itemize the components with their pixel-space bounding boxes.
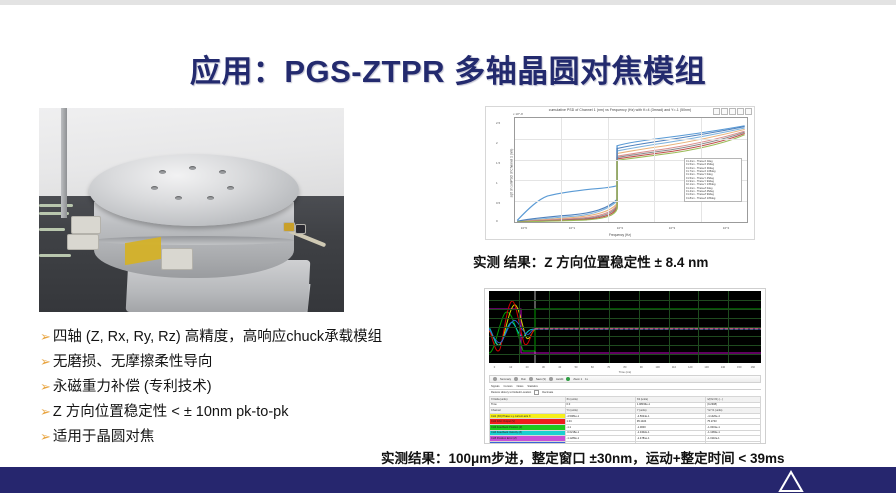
photo-connector (71, 216, 101, 234)
chart2-caption: 实测结果：100μm步进，整定窗口 ±30nm，运动+整定时间 < 39ms (381, 447, 785, 467)
channel-label: CH6 DAC Out-Z (490, 441, 566, 444)
scope-x-axis-label: Time (ms) (489, 370, 761, 374)
chart-y-axis-label: sqrt of cumPSD of Channel 1 (nm) (509, 149, 513, 198)
scope-x-tick: 140 (721, 366, 725, 369)
scope-x-tick: 90 (640, 366, 643, 369)
chart-x-tick: 10^0 (521, 226, 527, 230)
scope-x-tick: 130 (704, 366, 708, 369)
scope-panel: 0 10 20 30 40 50 60 70 80 90 100 110 120… (484, 288, 766, 444)
scope-mode-select[interactable]: Summary (500, 378, 511, 381)
feature-list: ➢ 四轴 (Z, Rx, Ry, Rz) 高精度，高响应chuck承载模组 ➢ … (40, 328, 460, 453)
chart1-caption: 实测 结果：Z 方向位置稳定性 ± 8.4 nm (473, 251, 708, 271)
page-title: 应用：PGS-ZTPR 多轴晶圆对焦模组 (0, 46, 896, 91)
photo-cable (39, 254, 71, 257)
measurement-table: X Delta (units) X1 (units) X2 (units) 1/… (489, 396, 761, 444)
company-logo-icon (778, 469, 804, 493)
chart-x-tick: 10^1 (569, 226, 575, 230)
scope-x-tick: 30 (542, 366, 545, 369)
photo-hole (189, 166, 196, 170)
list-item-label: 永磁重力补偿 (专利技术) (53, 378, 212, 396)
list-item: ➢ 永磁重力补偿 (专利技术) (40, 378, 460, 396)
bullet-arrow-icon: ➢ (40, 378, 51, 396)
list-item-label: 无磨损、无摩擦柔性导向 (53, 353, 213, 371)
list-item-label: 四轴 (Z, Rx, Ry, Rz) 高精度，高响应chuck承载模组 (53, 328, 382, 346)
tab-notes[interactable]: Notes (517, 385, 524, 388)
scope-x-tick: 10 (509, 366, 512, 369)
list-item: ➢ 适用于晶圆对焦 (40, 428, 460, 446)
photo-cable (39, 204, 73, 207)
scope-x-tick: 150 (737, 366, 741, 369)
scope-x-tick: 60 (591, 366, 594, 369)
restore-history-link[interactable]: Restore History to Default Location (491, 391, 531, 394)
decimate-checkbox[interactable] (534, 390, 539, 395)
chart-x-axis-label: Frequency (Hz) (486, 233, 754, 237)
scope-x-tick: 0 (494, 366, 495, 369)
chart-y-tick: 1 (496, 181, 498, 185)
list-item: ➢ 四轴 (Z, Rx, Ry, Rz) 高精度，高响应chuck承载模组 (40, 328, 460, 346)
scope-autofit-button[interactable]: Autofit (556, 378, 563, 381)
zoom-icon[interactable] (566, 377, 570, 381)
slide-root: 应用：PGS-ZTPR 多轴晶圆对焦模组 ➢ 四轴 (Z, R (0, 0, 896, 493)
tab-signals[interactable]: Signals (491, 385, 500, 388)
decimate-label: Decimate (542, 391, 553, 394)
scope-x-tick: 120 (688, 366, 692, 369)
scope-x-tick: 80 (624, 366, 627, 369)
list-item-label: 适用于晶圆对焦 (53, 428, 155, 446)
chart-y-tick: 2 (496, 141, 498, 145)
bullet-arrow-icon: ➢ (40, 428, 51, 446)
scope-run-button[interactable]: Run (521, 378, 526, 381)
chart-y-tick: 2.5 (496, 121, 500, 125)
photo-hole (175, 196, 182, 200)
settings-icon[interactable] (493, 377, 497, 381)
bullet-arrow-icon: ➢ (40, 328, 51, 346)
list-item-label: Z 方向位置稳定性 < ± 10nm pk-to-pk (53, 403, 289, 421)
photo-post (61, 108, 67, 218)
cell-dy: -1.0 (706, 441, 761, 444)
chart-tool-icon[interactable] (713, 108, 720, 115)
chart-y-tick: 0 (496, 219, 498, 223)
footer-bar (0, 467, 896, 493)
photo-hole (159, 170, 166, 174)
photo-chuck-disc (89, 154, 299, 226)
tab-cursors[interactable]: Cursors (504, 385, 513, 388)
autofit-icon[interactable] (549, 377, 553, 381)
cell-y1: 1.0 (565, 441, 635, 444)
list-item: ➢ 无磨损、无摩擦柔性导向 (40, 353, 460, 371)
photo-ring (94, 236, 294, 245)
photo-cable (39, 228, 65, 231)
bullet-arrow-icon: ➢ (40, 403, 51, 421)
chart-toolbar[interactable] (713, 108, 752, 115)
photo-fitting (283, 222, 295, 232)
photo-connector (161, 248, 193, 270)
photo-connector (67, 234, 99, 250)
chart-tool-icon[interactable] (729, 108, 736, 115)
save-icon[interactable] (529, 377, 533, 381)
gear-icon[interactable] (514, 377, 518, 381)
scope-x-tick: 160 (751, 366, 755, 369)
scope-x-tick: 50 (575, 366, 578, 369)
chart-x-tick: 10^3 (669, 226, 675, 230)
chart-y-tick: 0.5 (496, 201, 500, 205)
chart-x-tick: 10^2 (617, 226, 623, 230)
scope-save-button[interactable]: Save (S) (536, 378, 546, 381)
chart-y-exponent: x 10^-8 (513, 112, 523, 116)
photo-hole (227, 186, 234, 190)
scope-x-tick: 40 (558, 366, 561, 369)
scope-x-tick: 20 (526, 366, 529, 369)
scope-x-tick: 100 (655, 366, 659, 369)
top-strip (0, 0, 896, 5)
photo-hole (151, 186, 158, 190)
list-item: ➢ Z 方向位置稳定性 < ± 10nm pk-to-pk (40, 403, 460, 421)
table-row: CH6 DAC Out-Z 1.0 1.0 -1.0 (490, 441, 761, 444)
photo-hole (207, 196, 214, 200)
scope-x-axis: 0 10 20 30 40 50 60 70 80 90 100 110 120… (489, 363, 761, 374)
scope-toolbar[interactable]: Summary Run Save (S) Autofit Zoom 1 1x (489, 375, 761, 383)
scope-options-row[interactable]: Restore History to Default Location Deci… (489, 390, 761, 395)
scope-plot (489, 291, 761, 363)
chart-x-tick: 10^4 (723, 226, 729, 230)
tab-statistics[interactable]: Statistics (527, 385, 537, 388)
scope-x-tick: 70 (607, 366, 610, 369)
bullet-arrow-icon: ➢ (40, 353, 51, 371)
chart-tool-icon[interactable] (745, 108, 752, 115)
legend-item: ±1.8nm - Theta-Z 135deg (686, 197, 740, 200)
psd-chart: cumulative PSD of Channel 1 (nm) vs Freq… (485, 106, 755, 240)
scope-x-tick: 110 (672, 366, 676, 369)
chart-y-tick: 1.5 (496, 161, 500, 165)
photo-fitting (295, 224, 306, 234)
product-photo (39, 108, 344, 312)
photo-hole (219, 170, 226, 174)
scope-zoom-label[interactable]: Zoom 1 (573, 378, 582, 381)
chart-tool-icon[interactable] (721, 108, 728, 115)
chart-tool-icon[interactable] (737, 108, 744, 115)
scope-zoom-value[interactable]: 1x (585, 378, 588, 381)
chart-legend: ±1.4nm - Theta-X 0deg ±1.5nm - Theta-X 4… (684, 158, 742, 202)
cell-y: 1.0 (635, 441, 705, 444)
chart-plot-area: ±1.4nm - Theta-X 0deg ±1.5nm - Theta-X 4… (514, 117, 748, 223)
